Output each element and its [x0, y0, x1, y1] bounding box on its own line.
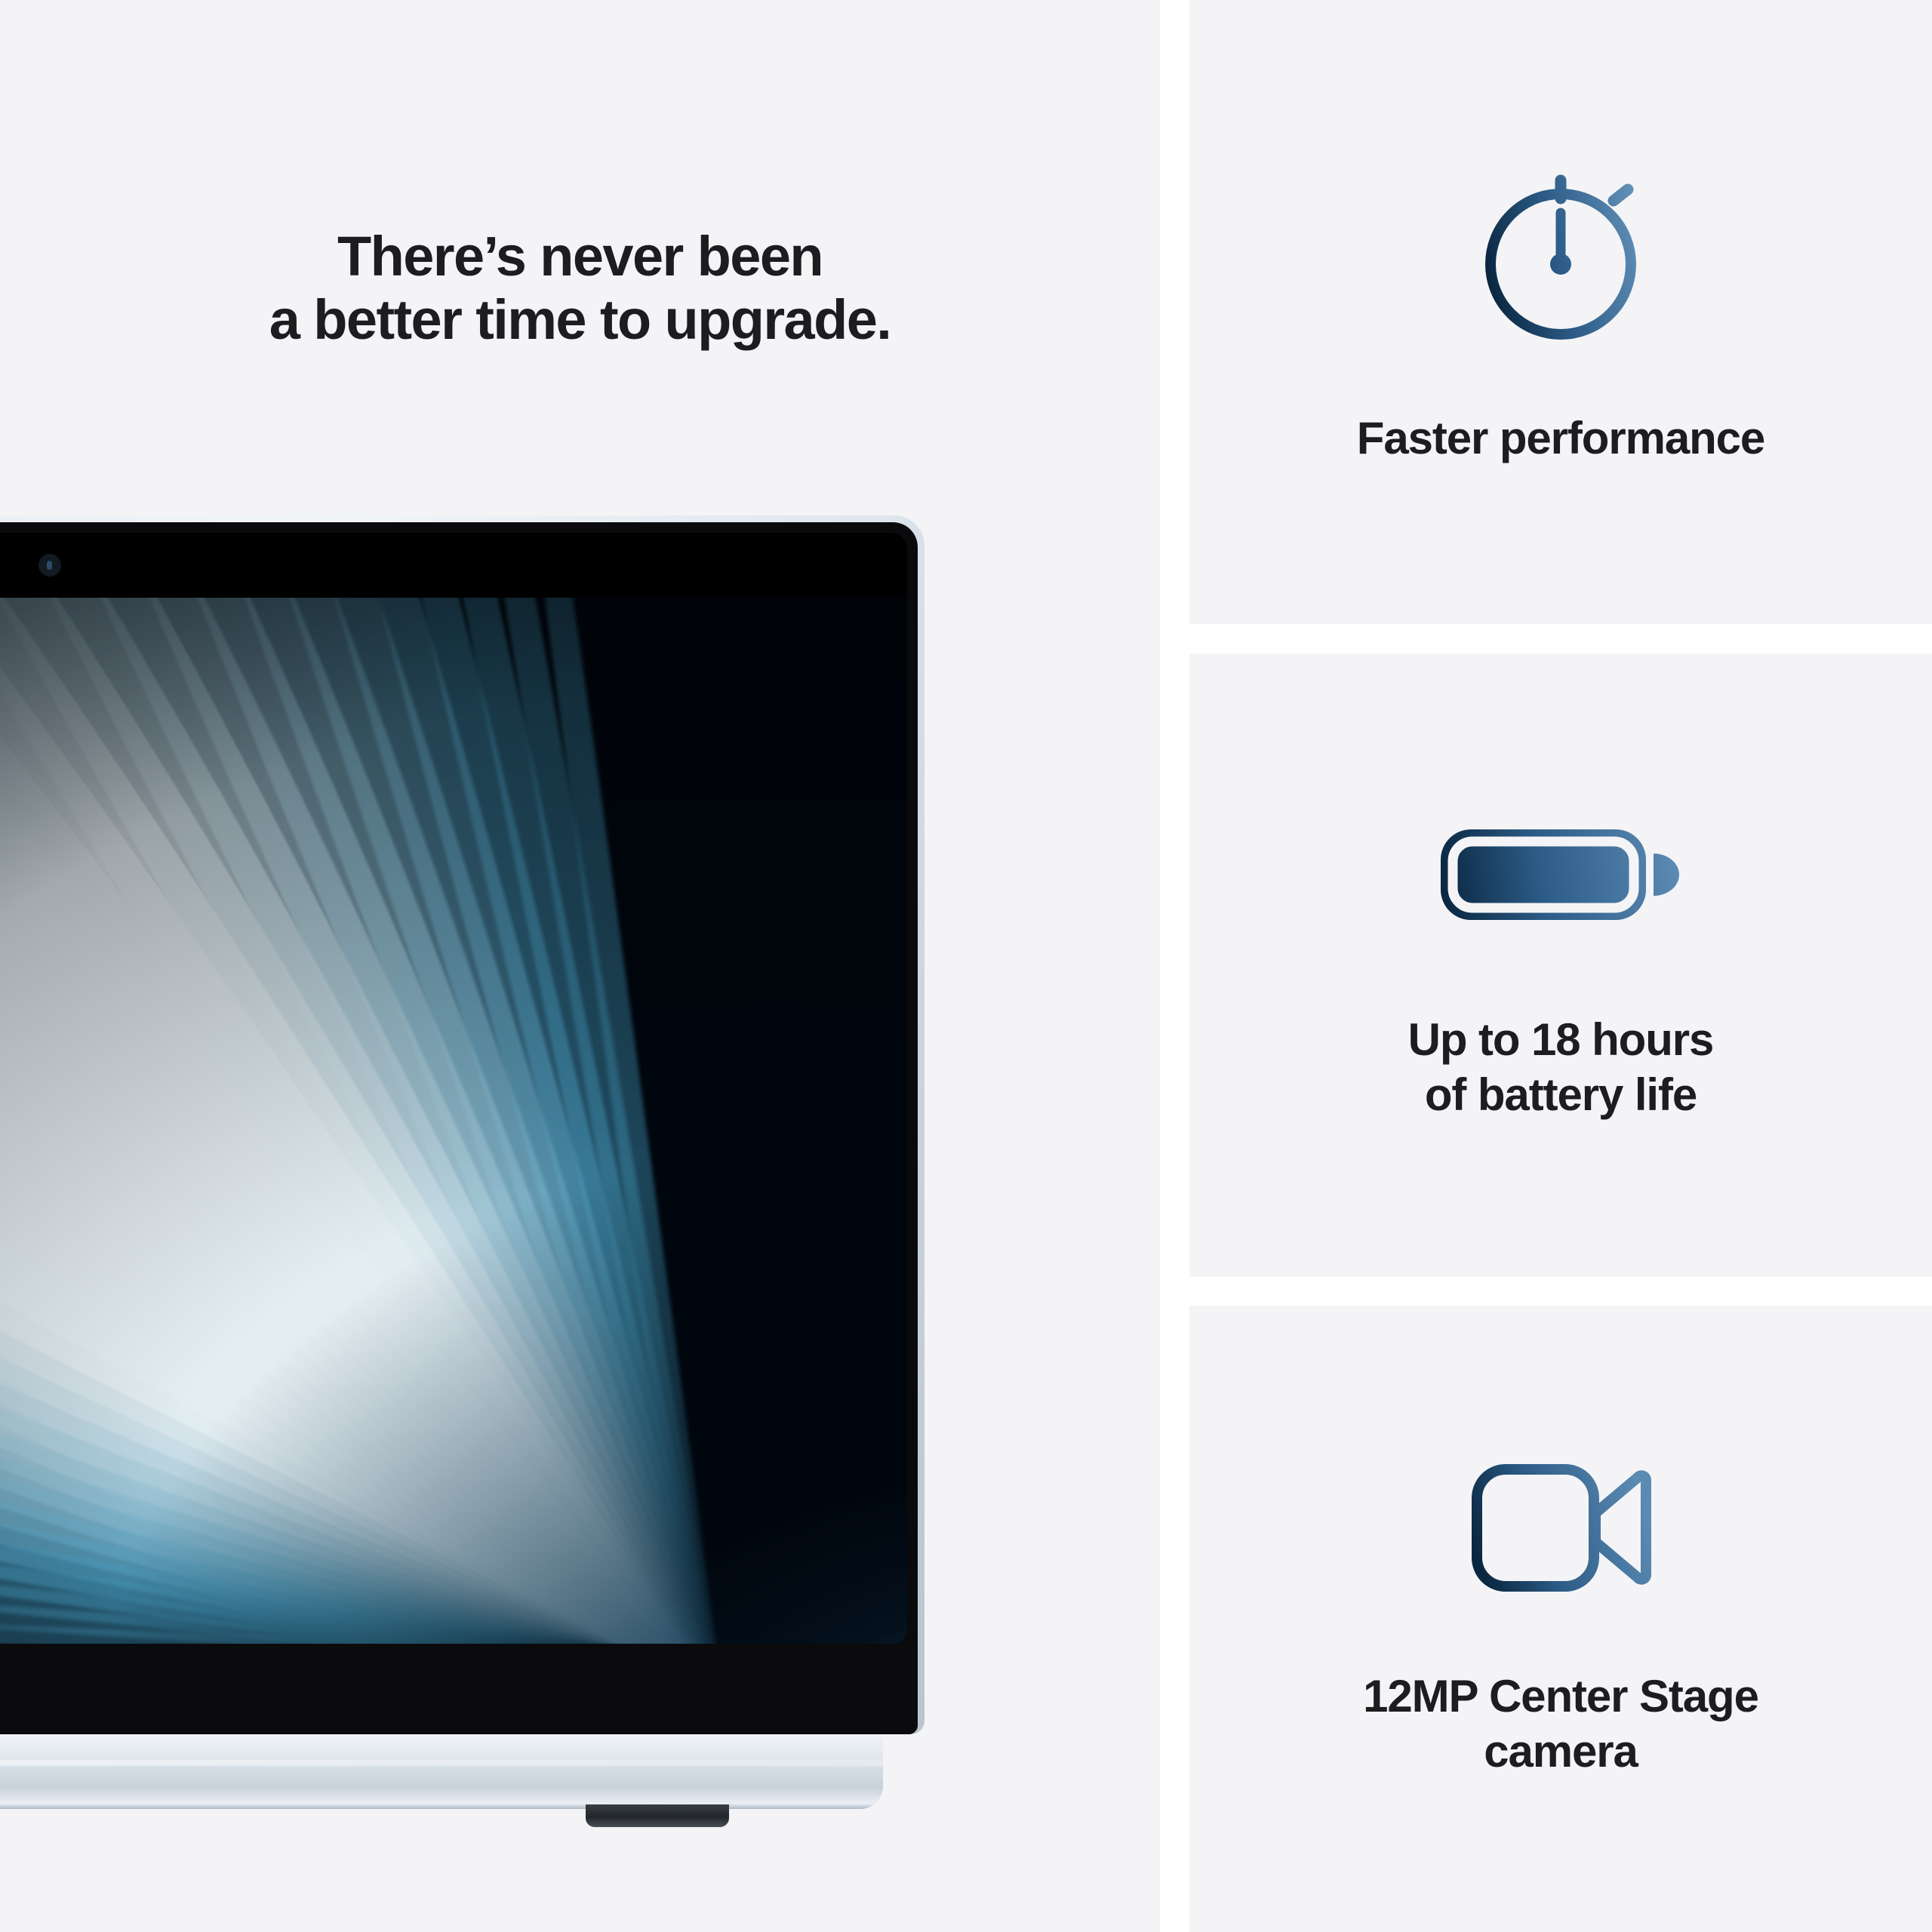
headline-line-2: a better time to upgrade.: [0, 288, 1160, 352]
feature-label-line-1: Faster performance: [1357, 411, 1764, 466]
feature-card-camera: 12MP Center Stage camera: [1189, 1306, 1932, 1932]
stopwatch-icon: [1473, 158, 1648, 347]
headline-line-1: There’s never been: [337, 225, 823, 288]
laptop-lid: [0, 515, 924, 1734]
laptop-bezel: [0, 522, 918, 1734]
feature-column: Faster performance: [1189, 0, 1932, 1932]
feature-label-line-2: of battery life: [1408, 1067, 1714, 1122]
wallpaper-vignette: [0, 533, 907, 1645]
promo-image: There’s never been a better time to upgr…: [0, 0, 1932, 1932]
desktop-wallpaper: [0, 533, 907, 1645]
feature-label-camera: 12MP Center Stage camera: [1363, 1669, 1758, 1779]
feature-card-performance: Faster performance: [1189, 0, 1932, 624]
webcam-icon: [38, 554, 61, 577]
feature-label-line-1: 12MP Center Stage: [1363, 1669, 1758, 1724]
lower-bezel: [0, 1644, 918, 1734]
feature-card-battery: Up to 18 hours of battery life: [1189, 654, 1932, 1277]
video-camera-icon: [1470, 1459, 1651, 1596]
battery-full-icon: [1436, 808, 1685, 941]
page-title: There’s never been a better time to upgr…: [0, 225, 1160, 352]
feature-label-performance: Faster performance: [1357, 411, 1764, 466]
laptop-base-highlight: [0, 1760, 883, 1766]
feature-label-line-2: camera: [1363, 1724, 1758, 1779]
display-notch: [10, 533, 448, 598]
macbook-air-product-image: [0, 515, 924, 1829]
laptop-foot: [586, 1804, 729, 1827]
feature-label-battery: Up to 18 hours of battery life: [1408, 1012, 1714, 1122]
feature-label-line-1: Up to 18 hours: [1408, 1012, 1714, 1067]
hero-panel: There’s never been a better time to upgr…: [0, 0, 1160, 1932]
laptop-screen: [0, 533, 907, 1645]
